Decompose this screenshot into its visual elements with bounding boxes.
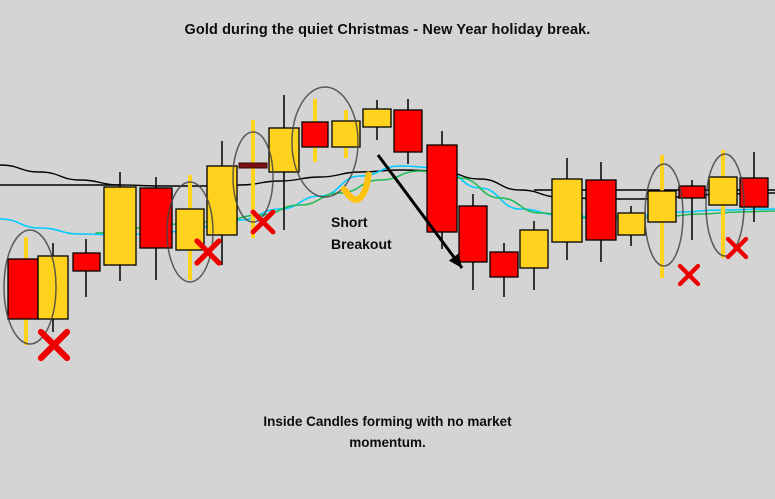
- candle-body-bullish: [104, 187, 136, 265]
- candle-body-bearish: [586, 180, 616, 240]
- candle-body-bearish: [302, 122, 328, 147]
- short-breakout-label: Short Breakout: [331, 211, 461, 255]
- candle-body-bearish: [679, 186, 705, 198]
- candle-body-bullish: [709, 177, 737, 205]
- chart-caption: Inside Candles forming with no market mo…: [0, 411, 775, 453]
- candle-body-bullish: [552, 179, 582, 242]
- candle-body-bearish: [73, 253, 100, 271]
- candle-body-bullish: [363, 109, 391, 127]
- candle-body-bullish: [648, 191, 676, 222]
- chart-canvas: Gold during the quiet Christmas - New Ye…: [0, 0, 775, 499]
- candle-body-bullish: [38, 256, 68, 319]
- candle-body-bullish: [520, 230, 548, 268]
- candle-body-bearish: [8, 259, 38, 319]
- candle-body-doji: [239, 163, 267, 168]
- candle-body-bullish: [618, 213, 645, 235]
- candle: [38, 243, 68, 332]
- candle-body-bearish: [459, 206, 487, 262]
- candle-body-bearish: [394, 110, 422, 152]
- candle-body-bearish: [490, 252, 518, 277]
- chart-title: Gold during the quiet Christmas - New Ye…: [0, 22, 775, 38]
- candle: [104, 172, 136, 281]
